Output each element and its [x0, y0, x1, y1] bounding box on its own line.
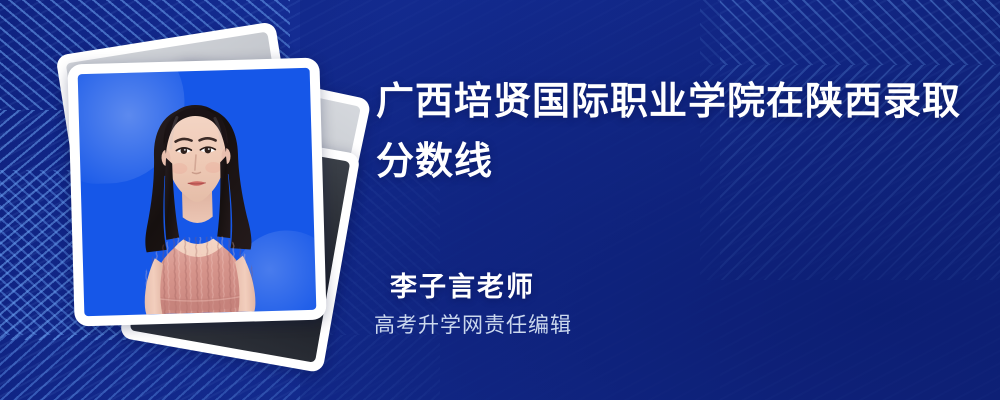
banner-text-column: 广西培贤国际职业学院在陕西录取分数线 李子言老师 高考升学网责任编辑: [376, 0, 976, 400]
author-portrait-illustration: [78, 68, 317, 316]
author-name: 李子言老师: [390, 270, 810, 304]
author-photo-card: [67, 58, 326, 327]
author-photo-frame: [78, 68, 317, 316]
photo-card-stack: [45, 35, 345, 355]
byline: 李子言老师 高考升学网责任编辑: [390, 270, 810, 339]
page-title: 广西培贤国际职业学院在陕西录取分数线: [376, 72, 962, 192]
article-cover-banner: 广西培贤国际职业学院在陕西录取分数线 李子言老师 高考升学网责任编辑: [0, 0, 1000, 400]
author-role: 高考升学网责任编辑: [374, 313, 810, 339]
